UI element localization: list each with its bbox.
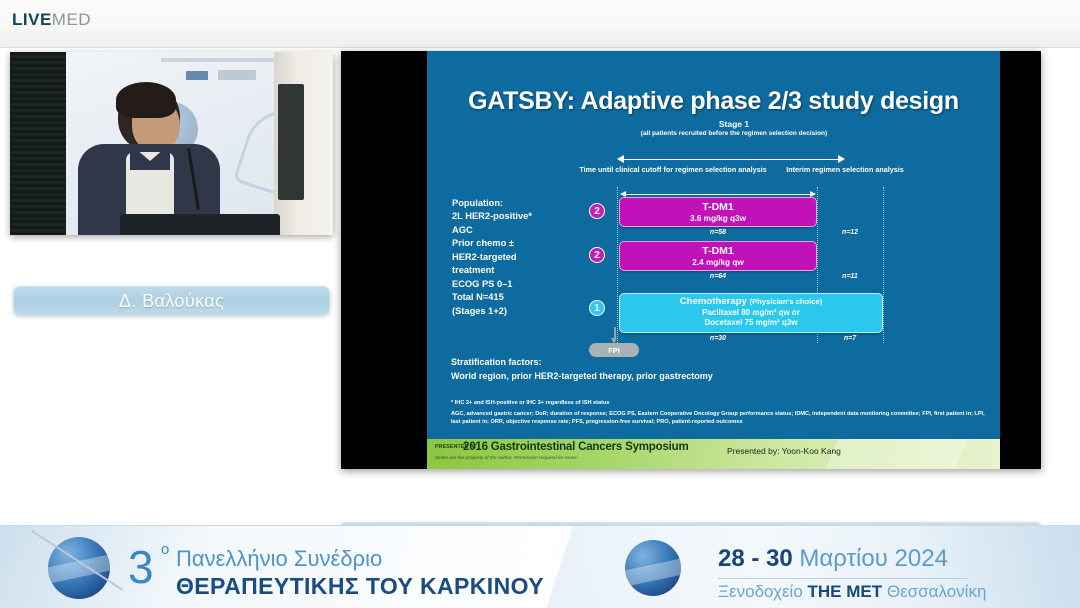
backdrop-logo-1 — [186, 71, 208, 80]
conference-ordinal-number: 3 — [128, 544, 154, 590]
venue-name: THE MET — [808, 582, 883, 601]
venue-prefix: Ξενοδοχείο — [718, 582, 803, 601]
treatment-arm-3: Chemotherapy (Physician's choice) Paclit… — [619, 293, 883, 333]
footer-presented-by: Presented by: Yoon-Koo Kang — [727, 446, 841, 456]
arm-3-dose: Paclitaxel 80 mg/m² qw or Docetaxel 75 m… — [620, 308, 882, 329]
logo-secondary-text: MED — [52, 10, 91, 29]
conference-venue: Ξενοδοχείο THE MET Θεσσαλονίκη — [718, 582, 986, 602]
arm-3-n-stage2: n=7 — [820, 335, 880, 342]
video-wall-panel — [278, 84, 304, 200]
arm-2-name: T-DM1 — [620, 245, 816, 258]
arm-2-dose: 2.4 mg/kg qw — [620, 258, 816, 269]
speaker-name-plate: Δ. Βαλούκας — [13, 286, 330, 316]
podium — [120, 214, 280, 235]
footer-rights-note: Slides are the property of the author. P… — [435, 456, 578, 461]
conference-date-range: 28 - 30 — [718, 545, 793, 572]
fpi-marker: FPI — [589, 343, 639, 357]
secondary-globe-logo — [625, 540, 681, 596]
banner-divider — [718, 578, 968, 579]
arm-3-n-stage1: n=30 — [688, 335, 748, 342]
speaker-hair — [116, 82, 176, 118]
arm-1-dose: 3.6 mg/kg q3w — [620, 214, 816, 225]
stage1-title: Stage 1 — [619, 119, 849, 129]
label-interim-analysis: Interim regimen selection analysis — [785, 165, 905, 175]
arm-3-name-main: Chemotherapy — [680, 296, 747, 307]
stage1-subtitle: (all patients recruited before the regim… — [605, 129, 863, 138]
population-criteria-text: Population: 2L HER2-positive* AGC Prior … — [452, 197, 582, 318]
speaker-video-player[interactable] — [10, 52, 333, 235]
arm-2-n-stage2: n=11 — [820, 273, 880, 280]
stratification-title: Stratification factors: — [451, 357, 542, 367]
arm-3-name-paren: (Physician's choice) — [750, 297, 823, 306]
conference-dates: 28 - 30 Μαρτίου 2024 — [718, 545, 948, 573]
backdrop-logo-2 — [218, 70, 256, 80]
arm-3-name: Chemotherapy (Physician's choice) — [620, 296, 882, 308]
stage1-span-arrow-icon — [617, 155, 845, 163]
presentation-slide: GATSBY: Adaptive phase 2/3 study design … — [427, 51, 1000, 469]
conference-name-line1: Πανελλήνιο Συνέδριο — [176, 546, 382, 572]
conference-banner: 3 o Πανελλήνιο Συνέδριο ΘΕΡΑΠΕΥΤΙΚΗΣ ΤΟΥ… — [0, 525, 1080, 608]
treatment-arm-2: T-DM1 2.4 mg/kg qw — [619, 241, 817, 271]
video-left-curtain — [10, 52, 68, 235]
slide-title: GATSBY: Adaptive phase 2/3 study design — [427, 87, 1000, 116]
arm-2-n-stage1: n=64 — [688, 273, 748, 280]
stage-badge-arm-2: 2 — [589, 247, 605, 263]
livemed-logo[interactable]: LIVEMED — [12, 10, 91, 30]
stage-badge-arm-1: 2 — [589, 203, 605, 219]
dotted-guide-right — [883, 187, 884, 343]
slide-viewer[interactable]: GATSBY: Adaptive phase 2/3 study design … — [341, 51, 1041, 469]
footnote-abbreviations: AGC, advanced gastric cancer; DoR; durat… — [451, 410, 986, 426]
label-time-until-cutoff: Time until clinical cutoff for regimen s… — [573, 165, 773, 175]
conference-name-line2: ΘΕΡΑΠΕΥΤΙΚΗΣ ΤΟΥ ΚΑΡΚΙΝΟΥ — [176, 573, 544, 600]
arm-1-n-stage1: n=58 — [688, 229, 748, 236]
arm-1-n-stage2: n=12 — [820, 229, 880, 236]
logo-primary-text: LIVE — [12, 10, 52, 29]
main-stage: Δ. Βαλούκας GATSBY: Adaptive phase 2/3 s… — [0, 48, 1080, 525]
conference-month-year: Μαρτίου 2024 — [799, 545, 948, 572]
speaker-name-label: Δ. Βαλούκας — [119, 291, 224, 312]
venue-city: Θεσσαλονίκη — [887, 582, 987, 601]
footnote-ihc: * IHC 2+ and ISH-positive or IHC 3+ rega… — [451, 399, 986, 407]
stratification-body: World region, prior HER2-targeted therap… — [451, 371, 713, 381]
arm-1-name: T-DM1 — [620, 201, 816, 214]
stage-badge-arm-3: 1 — [589, 300, 605, 316]
footer-symposium-title: 2016 Gastrointestinal Cancers Symposium — [463, 441, 689, 453]
conference-ordinal-degree: o — [161, 541, 169, 558]
slide-footer-band: PRESENTED AT 2016 Gastrointestinal Cance… — [427, 439, 1000, 469]
app-header: LIVEMED — [0, 0, 1080, 48]
treatment-arm-1: T-DM1 3.6 mg/kg q3w — [619, 197, 817, 227]
dotted-guide-left — [617, 187, 618, 343]
